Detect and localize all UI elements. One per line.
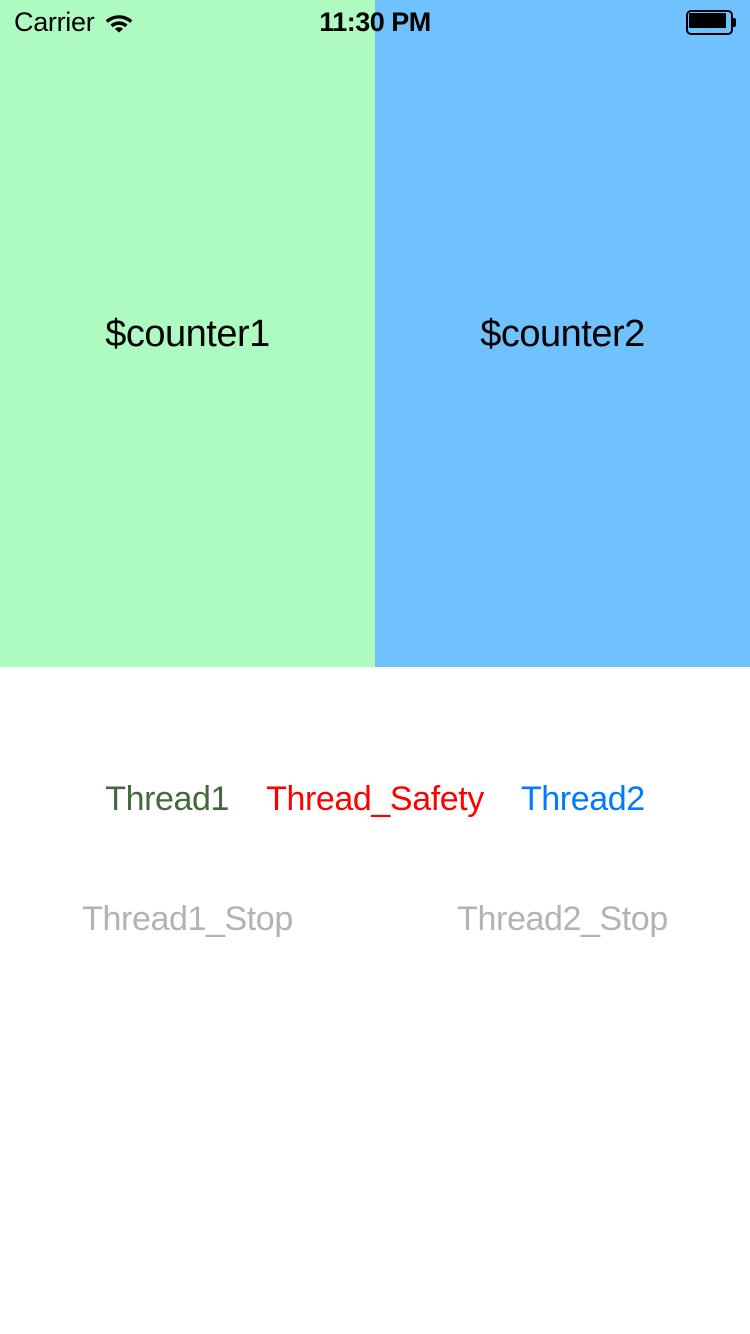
clock-label: 11:30 PM: [319, 9, 431, 36]
battery-full-icon: [686, 10, 736, 35]
thread2-stop-button[interactable]: Thread2_Stop: [375, 896, 750, 942]
counter2-panel: $counter2: [375, 0, 750, 667]
thread1-button[interactable]: Thread1: [105, 776, 229, 822]
counters-container: $counter1 $counter2: [0, 0, 750, 667]
counter2-label: $counter2: [480, 315, 645, 353]
start-button-row: Thread1 Thread_Safety Thread2: [0, 776, 750, 822]
thread2-button[interactable]: Thread2: [521, 776, 645, 822]
status-bar: Carrier 11:30 PM: [0, 0, 750, 44]
status-bar-content: Carrier 11:30 PM: [0, 0, 750, 44]
thread1-stop-button[interactable]: Thread1_Stop: [0, 896, 375, 942]
stop-button-row: Thread1_Stop Thread2_Stop: [0, 896, 750, 942]
counter1-panel: $counter1: [0, 0, 375, 667]
app-root: $counter1 $counter2 Carrier 11:30 P: [0, 0, 750, 1334]
thread-safety-button[interactable]: Thread_Safety: [266, 776, 484, 822]
battery-cap: [733, 18, 736, 27]
status-bar-center-group: 11:30 PM: [0, 0, 750, 44]
counter1-label: $counter1: [105, 315, 270, 353]
battery-fill: [689, 13, 726, 28]
controls-container: Thread1 Thread_Safety Thread2 Thread1_St…: [0, 667, 750, 1334]
status-bar-right-group: [686, 0, 736, 44]
